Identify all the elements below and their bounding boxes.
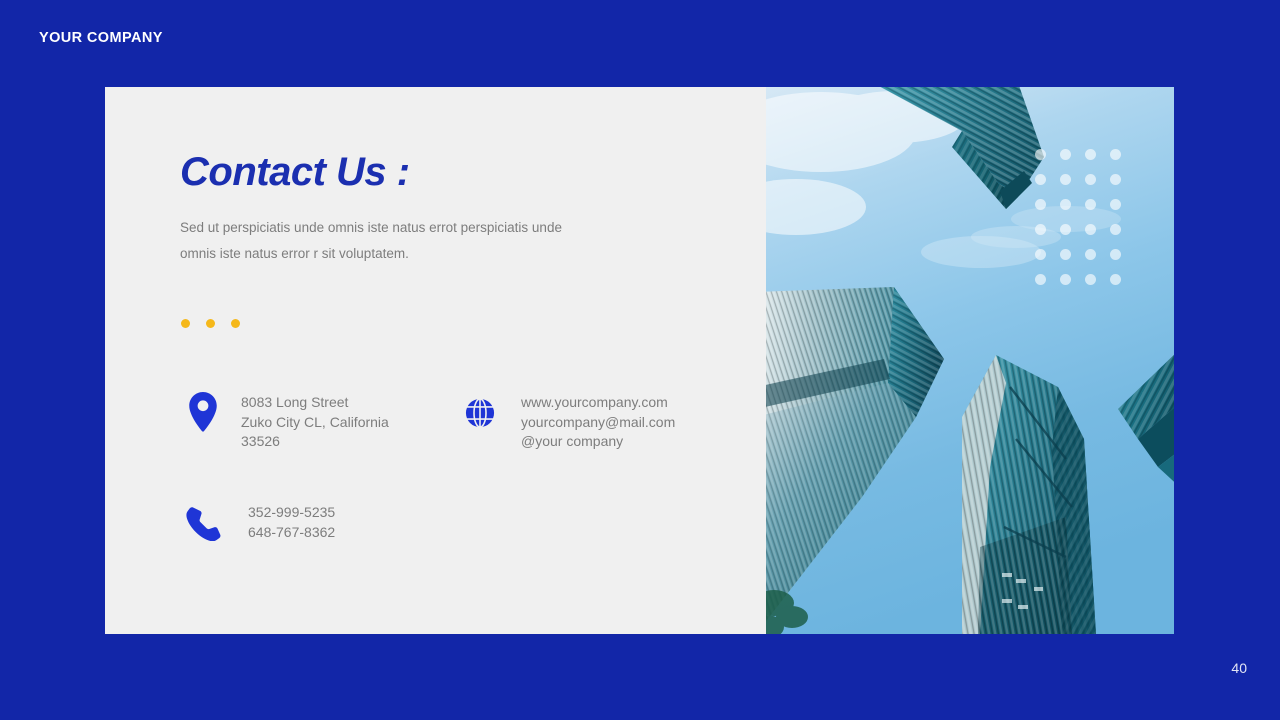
contact-card: Contact Us : Sed ut perspiciatis unde om…	[105, 87, 1174, 634]
accent-dots	[181, 319, 240, 328]
globe-icon	[457, 390, 503, 436]
slide: YOUR COMPANY Contact Us : Sed ut perspic…	[0, 0, 1280, 720]
grid-dot	[1035, 174, 1046, 185]
intro-line-2: omnis iste natus error r sit voluptatem.	[180, 241, 617, 267]
phone-number-2: 648-767-8362	[248, 524, 335, 540]
grid-dot	[1060, 249, 1071, 260]
card-left-panel: Contact Us : Sed ut perspiciatis unde om…	[105, 87, 766, 634]
phone-icon	[177, 497, 229, 549]
grid-dot	[1085, 249, 1096, 260]
grid-dot	[1060, 199, 1071, 210]
grid-dot	[1060, 274, 1071, 285]
grid-dot	[1085, 274, 1096, 285]
intro-line-1: Sed ut perspiciatis unde omnis iste natu…	[180, 215, 617, 241]
dot-grid-overlay	[1035, 149, 1135, 299]
grid-dot	[1035, 274, 1046, 285]
phone-text: 352-999-5235 648-767-8362	[248, 503, 335, 542]
grid-dot	[1110, 149, 1121, 160]
grid-dot	[1035, 149, 1046, 160]
grid-dot	[1060, 224, 1071, 235]
location-pin-icon	[177, 386, 229, 438]
grid-dot	[1060, 149, 1071, 160]
company-logo-text: YOUR COMPANY	[39, 31, 163, 46]
accent-dot	[206, 319, 215, 328]
grid-dot	[1110, 274, 1121, 285]
grid-dot	[1085, 224, 1096, 235]
grid-dot	[1085, 174, 1096, 185]
page-title: Contact Us :	[180, 152, 410, 192]
grid-dot	[1035, 249, 1046, 260]
grid-dot	[1085, 149, 1096, 160]
phone-number-1: 352-999-5235	[248, 504, 335, 520]
contact-item-web[interactable]: www.yourcompany.com yourcompany@mail.com…	[457, 390, 675, 452]
grid-dot	[1110, 224, 1121, 235]
address-line-1: 8083 Long Street	[241, 394, 348, 410]
address-line-3: 33526	[241, 433, 280, 449]
social-handle: @your company	[521, 433, 623, 449]
grid-dot	[1035, 199, 1046, 210]
skyscraper-photo	[766, 87, 1174, 634]
grid-dot	[1110, 199, 1121, 210]
grid-dot	[1085, 199, 1096, 210]
address-text: 8083 Long Street Zuko City CL, Californi…	[241, 393, 389, 452]
accent-dot	[181, 319, 190, 328]
website-url: www.yourcompany.com	[521, 394, 668, 410]
contact-item-address[interactable]: 8083 Long Street Zuko City CL, Californi…	[177, 390, 389, 452]
accent-dot	[231, 319, 240, 328]
email-address: yourcompany@mail.com	[521, 414, 675, 430]
grid-dot	[1060, 174, 1071, 185]
web-text: www.yourcompany.com yourcompany@mail.com…	[521, 393, 675, 452]
grid-dot	[1035, 224, 1046, 235]
contact-item-phone[interactable]: 352-999-5235 648-767-8362	[177, 497, 335, 549]
address-line-2: Zuko City CL, California	[241, 414, 389, 430]
grid-dot	[1110, 174, 1121, 185]
page-number: 40	[1231, 661, 1247, 675]
grid-dot	[1110, 249, 1121, 260]
intro-paragraph: Sed ut perspiciatis unde omnis iste natu…	[180, 215, 617, 267]
